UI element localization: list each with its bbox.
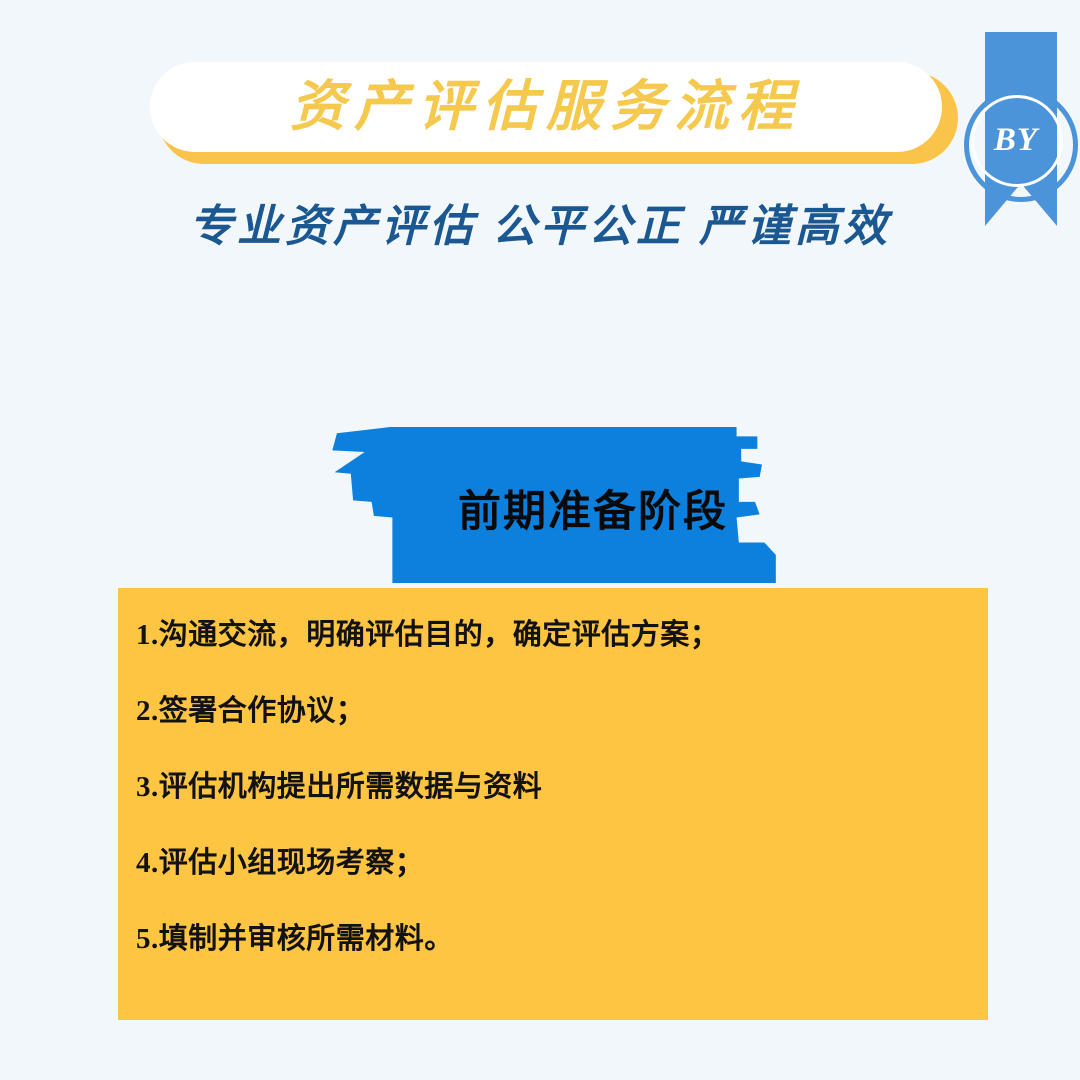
steps-card: 1.沟通交流，明确评估目的，确定评估方案； 2.签署合作协议； 3.评估机构提出… <box>118 588 988 1020</box>
title-pill: 资产评估服务流程 <box>150 62 942 152</box>
page-subtitle: 专业资产评估 公平公正 严谨高效 <box>0 190 1080 254</box>
list-item: 2.签署合作协议； <box>118 696 988 728</box>
list-item: 3.评估机构提出所需数据与资料 <box>118 772 988 804</box>
list-item: 1.沟通交流，明确评估目的，确定评估方案； <box>118 620 988 652</box>
badge-label: BY <box>964 88 1068 192</box>
page-title: 资产评估服务流程 <box>290 79 802 134</box>
stage-banner: 前期准备阶段 <box>330 427 792 583</box>
ribbon-badge: BY <box>985 32 1057 226</box>
title-banner: 资产评估服务流程 <box>150 62 950 158</box>
stage-title: 前期准备阶段 <box>362 477 824 539</box>
steps-list: 1.沟通交流，明确评估目的，确定评估方案； 2.签署合作协议； 3.评估机构提出… <box>118 620 988 955</box>
list-item: 5.填制并审核所需材料。 <box>118 924 988 956</box>
poster-canvas: 资产评估服务流程 专业资产评估 公平公正 严谨高效 BY 前期准备阶段 1.沟通… <box>0 0 1080 1080</box>
ribbon-seal-icon: BY <box>964 88 1078 202</box>
list-item: 4.评估小组现场考察； <box>118 848 988 880</box>
